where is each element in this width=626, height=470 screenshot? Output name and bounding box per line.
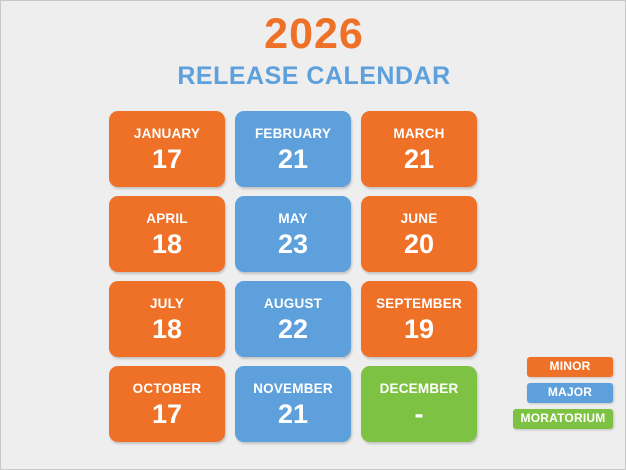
legend: MINORMAJORMORATORIUM [503,357,613,429]
month-card-february[interactable]: FEBRUARY21 [235,111,351,187]
month-name: MARCH [393,125,444,142]
month-name: NOVEMBER [253,380,333,397]
month-release-day: - [415,398,424,430]
month-grid: JANUARY17FEBRUARY21MARCH21APRIL18MAY23JU… [109,111,477,442]
legend-item-minor[interactable]: MINOR [527,357,613,377]
month-release-day: 21 [278,143,308,175]
month-release-day: 22 [278,313,308,345]
month-release-day: 21 [278,398,308,430]
month-name: FEBRUARY [255,125,331,142]
month-name: MAY [278,210,307,227]
month-card-april[interactable]: APRIL18 [109,196,225,272]
month-name: APRIL [146,210,188,227]
month-card-july[interactable]: JULY18 [109,281,225,357]
month-name: AUGUST [264,295,322,312]
month-card-august[interactable]: AUGUST22 [235,281,351,357]
month-name: JANUARY [134,125,200,142]
month-name: OCTOBER [133,380,202,397]
month-card-december[interactable]: DECEMBER- [361,366,477,442]
month-name: SEPTEMBER [376,295,462,312]
month-release-day: 18 [152,228,182,260]
month-card-september[interactable]: SEPTEMBER19 [361,281,477,357]
month-name: DECEMBER [380,380,459,397]
month-card-january[interactable]: JANUARY17 [109,111,225,187]
legend-item-moratorium[interactable]: MORATORIUM [513,409,613,429]
month-card-november[interactable]: NOVEMBER21 [235,366,351,442]
month-card-june[interactable]: JUNE20 [361,196,477,272]
month-card-march[interactable]: MARCH21 [361,111,477,187]
page-subtitle: RELEASE CALENDAR [1,61,626,91]
month-card-may[interactable]: MAY23 [235,196,351,272]
month-name: JUNE [401,210,438,227]
legend-item-major[interactable]: MAJOR [527,383,613,403]
month-release-day: 23 [278,228,308,260]
page-title-year: 2026 [1,9,626,59]
release-calendar-page: 2026 RELEASE CALENDAR JANUARY17FEBRUARY2… [0,0,626,470]
month-release-day: 21 [404,143,434,175]
month-release-day: 19 [404,313,434,345]
month-release-day: 17 [152,398,182,430]
month-card-october[interactable]: OCTOBER17 [109,366,225,442]
month-name: JULY [150,295,184,312]
month-release-day: 18 [152,313,182,345]
month-release-day: 17 [152,143,182,175]
month-release-day: 20 [404,228,434,260]
